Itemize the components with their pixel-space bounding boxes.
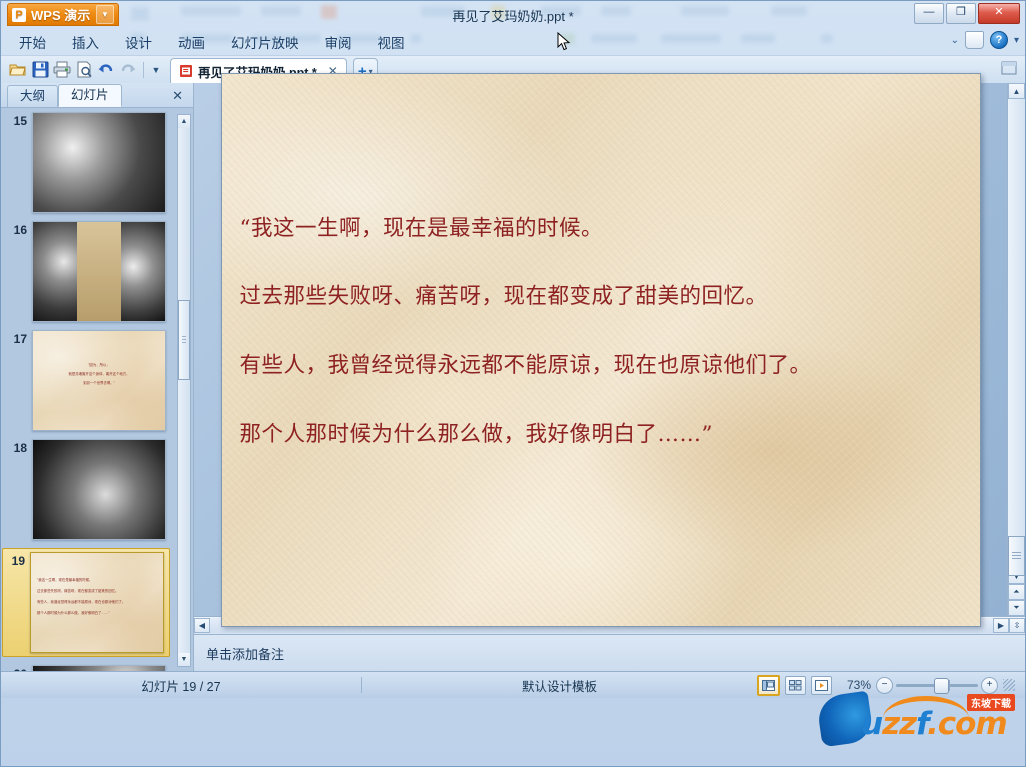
chevron-down-icon[interactable]: ⌄: [951, 35, 959, 46]
thumbnail-number: 15: [5, 112, 32, 128]
menu-view[interactable]: 视图: [378, 32, 405, 52]
thumb-text-line: "我这一生啊，现在是最幸福的时候。: [37, 575, 157, 586]
maximize-button[interactable]: ❐: [946, 3, 976, 24]
zoom-in-button[interactable]: +: [981, 677, 998, 694]
scroll-corner-icon: ⇳: [1009, 618, 1025, 633]
site-watermark: uzzf.com 东坡下载: [817, 690, 1017, 748]
slide-text-body[interactable]: “我这一生啊，现在是最幸福的时候。 过去那些失败呀、痛苦呀，现在都变成了甜美的回…: [240, 216, 976, 450]
thumb-text-line: "因为，所以，: [39, 361, 159, 370]
watermark-zz: zz: [882, 706, 916, 742]
print-icon[interactable]: [51, 59, 73, 81]
thumbnail-item[interactable]: 16: [5, 221, 189, 322]
menu-design[interactable]: 设计: [125, 32, 152, 52]
current-slide[interactable]: “我这一生啊，现在是最幸福的时候。 过去那些失败呀、痛苦呀，现在都变成了甜美的回…: [221, 73, 981, 627]
slide-counter: 幻灯片 19 / 27: [1, 676, 361, 695]
menu-animation[interactable]: 动画: [178, 32, 205, 52]
scrollbar-track[interactable]: [1008, 99, 1025, 568]
wps-presentation-window: P WPS 演示 ▼ 再见了艾玛奶奶.ppt * — ❐ ✕ 开始 插入 设计 …: [0, 0, 1026, 767]
slide-sorter-icon[interactable]: [785, 676, 806, 695]
thumbnail-preview[interactable]: [32, 112, 166, 213]
menu-review[interactable]: 审阅: [325, 32, 352, 52]
status-bar: 幻灯片 19 / 27 默认设计模板 73% − +: [1, 671, 1025, 698]
save-icon[interactable]: [29, 59, 51, 81]
document-title: 再见了艾玛奶奶.ppt *: [1, 6, 1025, 25]
redo-icon[interactable]: [117, 59, 139, 81]
thumbnail-item[interactable]: 18: [5, 439, 189, 540]
slide-paragraph: 有些人，我曾经觉得永远都不能原谅，现在也原谅他们了。: [240, 353, 976, 380]
close-button[interactable]: ✕: [978, 3, 1020, 24]
editor-vertical-scrollbar[interactable]: ▲ ▼ ⏶ ⏷: [1007, 83, 1025, 616]
watermark-com: .com: [927, 706, 1007, 742]
slide-paragraph: 过去那些失败呀、痛苦呀，现在都变成了甜美的回忆。: [240, 284, 976, 311]
grip-icon: [182, 336, 186, 344]
watermark-text: uzzf.com: [861, 706, 1007, 742]
main-area: 大纲 幻灯片 ✕ 15 16 17: [1, 83, 1025, 671]
thumbnail-item-selected[interactable]: 19 "我这一生啊，现在是最幸福的时候。 过去那些失败呀、痛苦呀，现在都变成了甜…: [2, 548, 170, 657]
menu-slideshow[interactable]: 幻灯片放映: [231, 32, 299, 52]
scrollbar-thumb[interactable]: [1008, 536, 1025, 576]
open-icon[interactable]: [7, 59, 29, 81]
slideshow-icon[interactable]: [811, 676, 832, 695]
toolbar-divider: [143, 62, 144, 78]
close-icon[interactable]: ✕: [172, 88, 183, 104]
slide-paragraph: 那个人那时候为什么那么做，我好像明白了……”: [240, 422, 976, 449]
thumbnail-preview[interactable]: "我这一生啊，现在是最幸福的时候。 过去那些失败呀、痛苦呀，现在都变成了甜美的回…: [30, 552, 164, 653]
arc-decoration-icon: [883, 696, 969, 723]
slide-navigation-panel: 大纲 幻灯片 ✕ 15 16 17: [1, 83, 194, 671]
thumbnail-number: 19: [3, 552, 30, 568]
panel-scrollbar[interactable]: ▲ ▼: [177, 114, 191, 667]
zoom-slider[interactable]: − +: [876, 677, 998, 694]
window-controls: — ❐ ✕: [914, 3, 1020, 24]
next-slide-icon[interactable]: ⏷: [1008, 600, 1025, 616]
grip-icon: [1012, 552, 1021, 560]
scroll-up-icon[interactable]: ▲: [1008, 83, 1025, 99]
thumb-text-line: 过去那些失败呀、痛苦呀，现在都变成了甜美的回忆。: [37, 586, 157, 597]
watermark-f: f: [916, 706, 927, 742]
title-bar: P WPS 演示 ▼ 再见了艾玛奶奶.ppt * — ❐ ✕: [1, 1, 1025, 29]
zoom-out-button[interactable]: −: [876, 677, 893, 694]
menu-insert[interactable]: 插入: [72, 32, 99, 52]
scrollbar-thumb[interactable]: [178, 300, 190, 380]
menu-bar: 开始 插入 设计 动画 幻灯片放映 审阅 视图 ⌄ ? ▾: [1, 29, 1025, 55]
slide-stage[interactable]: “我这一生啊，现在是最幸福的时候。 过去那些失败呀、痛苦呀，现在都变成了甜美的回…: [194, 83, 1007, 616]
previous-slide-icon[interactable]: ⏶: [1008, 584, 1025, 600]
slide-editor: “我这一生啊，现在是最幸福的时候。 过去那些失败呀、痛苦呀，现在都变成了甜美的回…: [194, 83, 1025, 671]
thumbnail-number: 17: [5, 330, 32, 346]
print-preview-icon[interactable]: [73, 59, 95, 81]
slide-thumbnail-list[interactable]: 15 16 17 "因为，所以，: [1, 108, 193, 671]
scroll-left-icon[interactable]: ◀: [194, 618, 210, 633]
thumbnail-item[interactable]: 17 "因为，所以， 就是灵魂离开这个身体、离开这个地方， 到另一个世界去啊。": [5, 330, 189, 431]
thumbnail-preview[interactable]: [32, 221, 166, 322]
minimize-button[interactable]: —: [914, 3, 944, 24]
mouse-cursor: [557, 32, 571, 55]
help-menu-caret-icon[interactable]: ▾: [1014, 35, 1019, 46]
help-icon[interactable]: ?: [990, 31, 1008, 49]
thumbnail-item[interactable]: 15: [5, 112, 189, 213]
tab-slides[interactable]: 幻灯片: [58, 84, 122, 107]
thumb-text-line: 就是灵魂离开这个身体、离开这个地方，: [39, 370, 159, 379]
menu-start[interactable]: 开始: [19, 32, 46, 52]
presentation-file-icon: [179, 64, 193, 78]
watermark-u: u: [861, 706, 882, 742]
zoom-track[interactable]: [896, 684, 978, 687]
panel-tab-strip: 大纲 幻灯片 ✕: [1, 83, 193, 108]
scroll-down-icon[interactable]: ▼: [178, 653, 190, 666]
undo-icon[interactable]: [95, 59, 117, 81]
sail-logo-icon: [816, 691, 874, 748]
status-right-tools: 73% − +: [757, 675, 1025, 696]
scroll-up-icon[interactable]: ▲: [178, 115, 190, 128]
design-template-label: 默认设计模板: [362, 676, 757, 695]
menu-bar-right-tools: ⌄ ? ▾: [951, 31, 1019, 49]
resize-grip-icon[interactable]: [1003, 679, 1015, 691]
thumb-text-line: 到另一个世界去啊。": [39, 379, 159, 388]
notes-placeholder: 单击添加备注: [206, 644, 284, 663]
zoom-handle[interactable]: [934, 678, 949, 694]
scroll-right-icon[interactable]: ▶: [993, 618, 1009, 633]
notes-pane[interactable]: 单击添加备注: [194, 634, 1025, 671]
zoom-tick: [949, 680, 950, 691]
thumbnail-number: 18: [5, 439, 32, 455]
thumbnail-preview[interactable]: "因为，所以， 就是灵魂离开这个身体、离开这个地方， 到另一个世界去啊。": [32, 330, 166, 431]
zoom-level-label: 73%: [837, 678, 871, 692]
thumb-text-line: 那个人那时候为什么那么做，我好像明白了……": [37, 608, 157, 619]
thumb-text-line: 有些人，我曾经觉得永远都不能原谅，现在也原谅他们了。: [37, 597, 157, 608]
normal-view-icon[interactable]: [757, 675, 780, 696]
tab-outline[interactable]: 大纲: [7, 85, 58, 107]
skin-icon[interactable]: [965, 31, 984, 49]
thumbnail-preview[interactable]: [32, 439, 166, 540]
slide-paragraph: “我这一生啊，现在是最幸福的时候。: [240, 216, 976, 243]
ribbon-collapse-icon[interactable]: [1001, 61, 1017, 78]
thumbnail-number: 16: [5, 221, 32, 237]
qat-more-icon[interactable]: ▼: [148, 65, 164, 75]
